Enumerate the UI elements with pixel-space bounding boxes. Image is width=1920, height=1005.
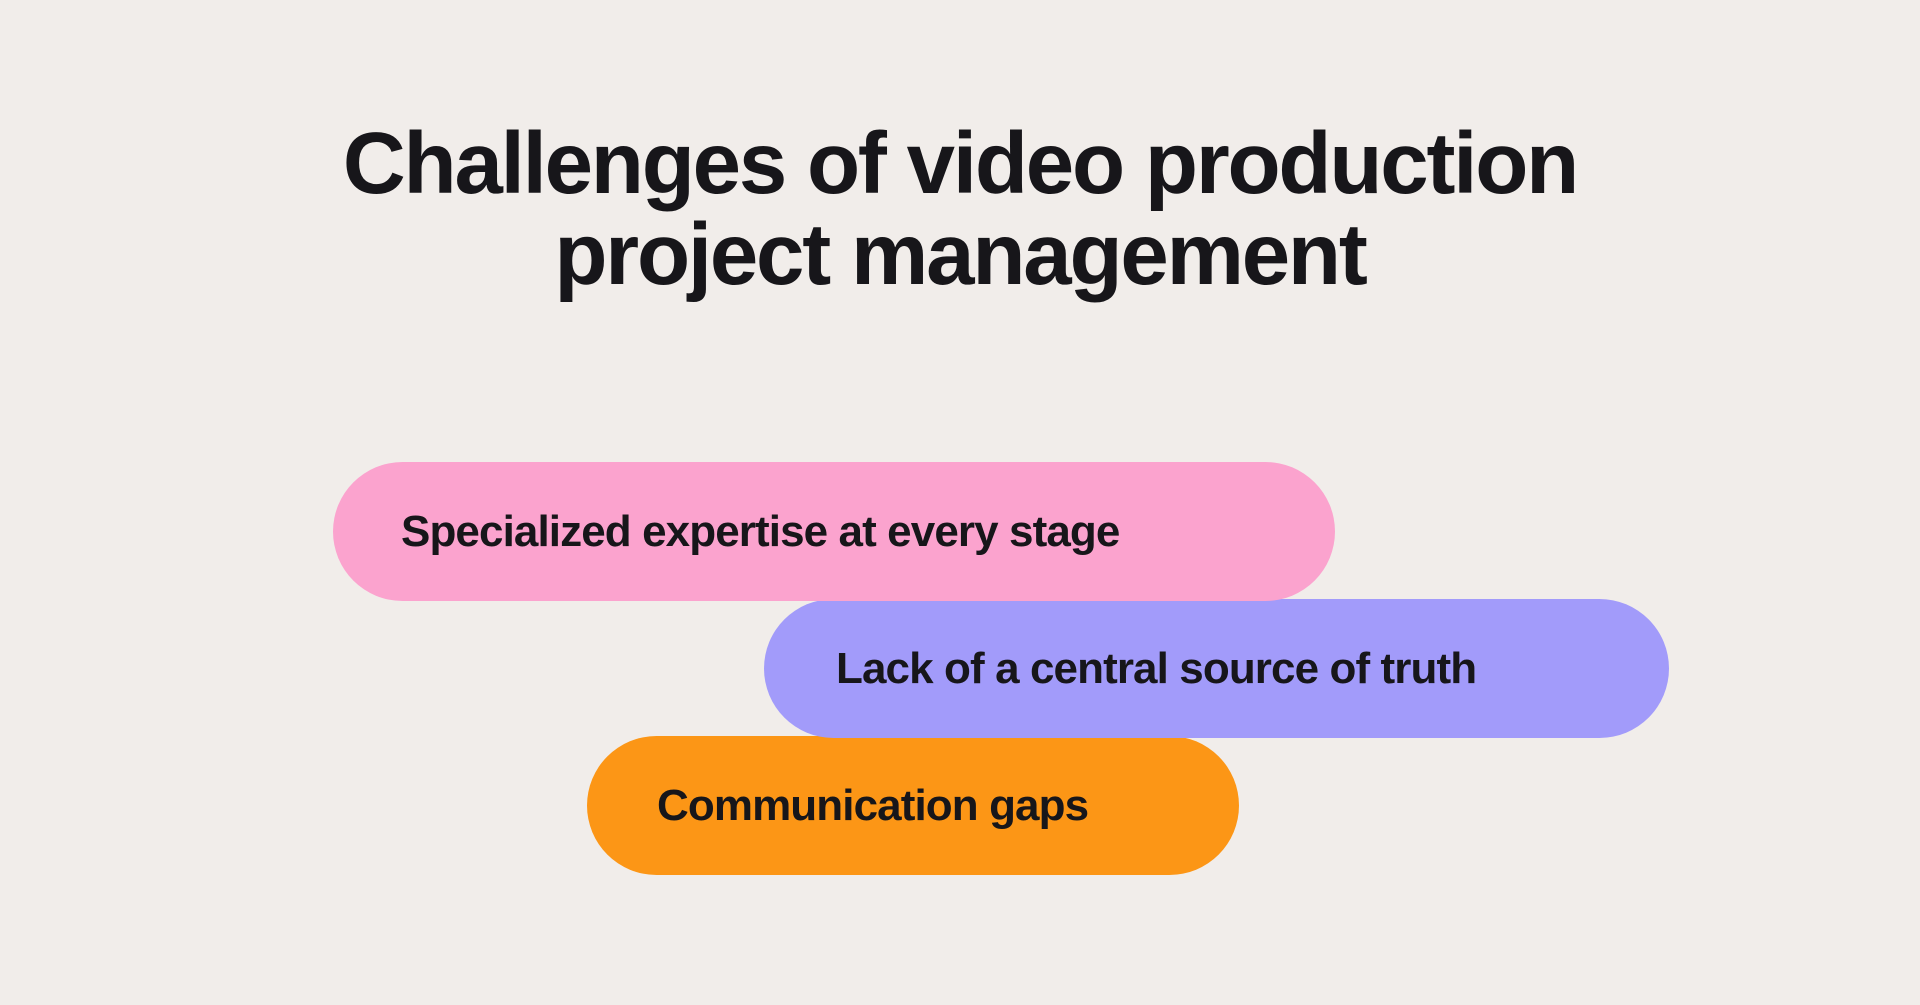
challenge-pill-communication-gaps: Communication gaps bbox=[587, 736, 1239, 875]
challenge-pill-specialized-expertise: Specialized expertise at every stage bbox=[333, 462, 1335, 601]
slide-canvas: Challenges of video production project m… bbox=[0, 0, 1920, 1005]
challenge-pill-list: Specialized expertise at every stage Lac… bbox=[0, 0, 1920, 1005]
challenge-pill-label: Lack of a central source of truth bbox=[836, 647, 1476, 691]
challenge-pill-label: Specialized expertise at every stage bbox=[401, 510, 1119, 554]
challenge-pill-central-source-of-truth: Lack of a central source of truth bbox=[764, 599, 1669, 738]
challenge-pill-label: Communication gaps bbox=[657, 784, 1088, 828]
